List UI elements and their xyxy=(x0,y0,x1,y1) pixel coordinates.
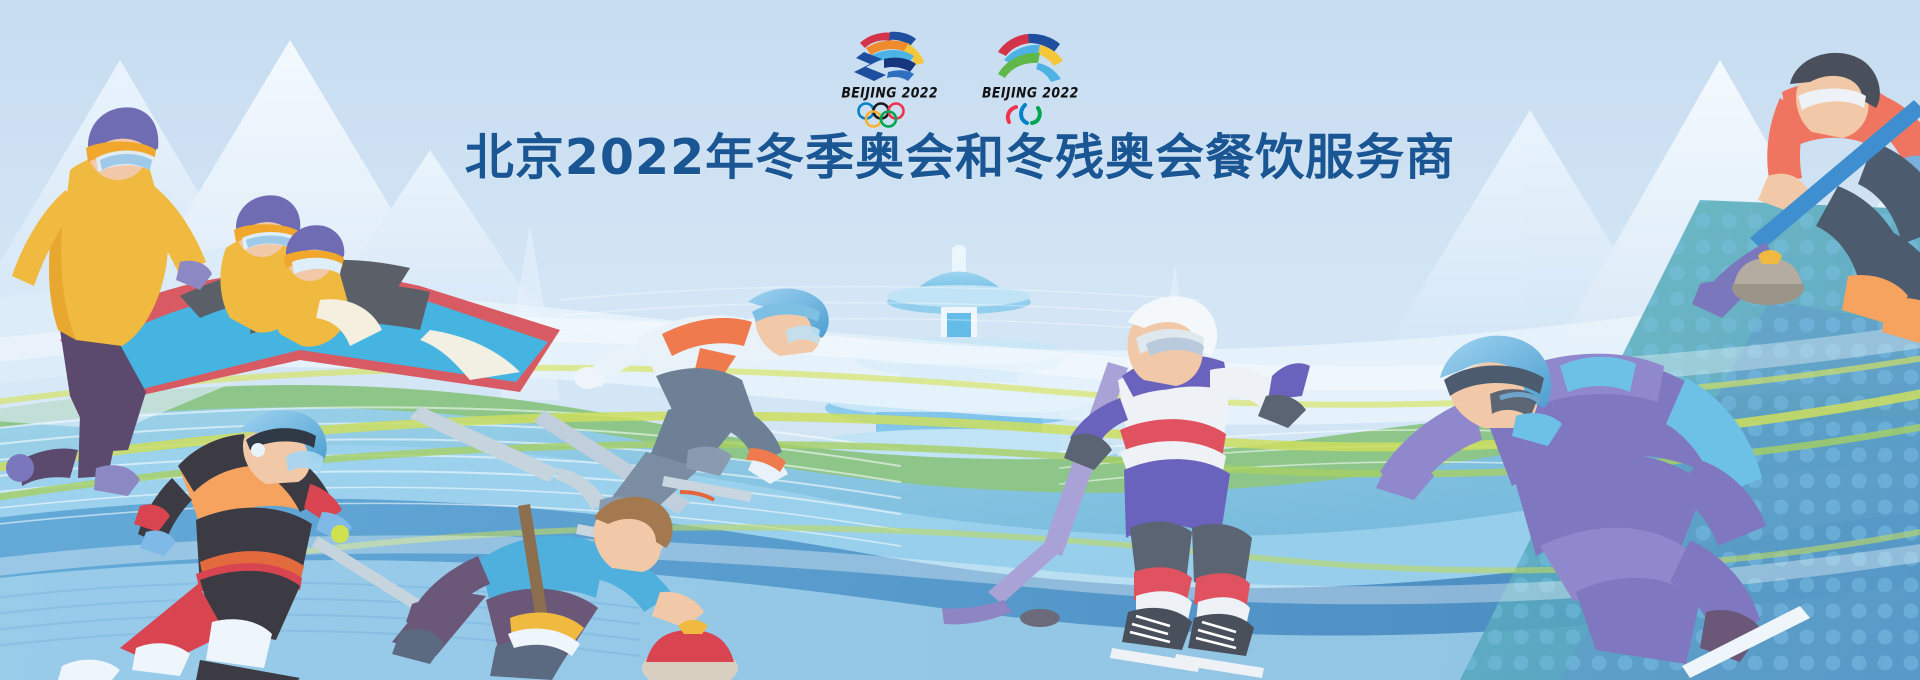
flying-high-icon xyxy=(984,26,1076,84)
hockey-puck-icon xyxy=(1020,609,1060,627)
beijing-2022-olympic-emblem: BEIJING 2022 xyxy=(841,26,938,128)
olympic-wordmark: BEIJING 2022 xyxy=(841,84,938,101)
hockey-stick-icon xyxy=(942,362,1128,624)
page-title: 北京2022年冬季奥会和冬残奥会餐饮服务商 xyxy=(0,118,1920,189)
paralympic-wordmark: BEIJING 2022 xyxy=(982,84,1079,101)
winter-dream-icon xyxy=(844,26,936,84)
beijing-2022-catering-banner: BEIJING 2022 BEIJING 20 xyxy=(0,0,1920,680)
emblem-row: BEIJING 2022 BEIJING 20 xyxy=(0,26,1920,128)
curler-sweeper-center xyxy=(392,497,738,680)
beijing-2022-paralympic-emblem: BEIJING 2022 xyxy=(982,26,1079,128)
ice-hockey-player xyxy=(942,296,1310,678)
speed-skater-right xyxy=(1376,336,1810,678)
curling-stone-red-icon xyxy=(642,620,738,680)
